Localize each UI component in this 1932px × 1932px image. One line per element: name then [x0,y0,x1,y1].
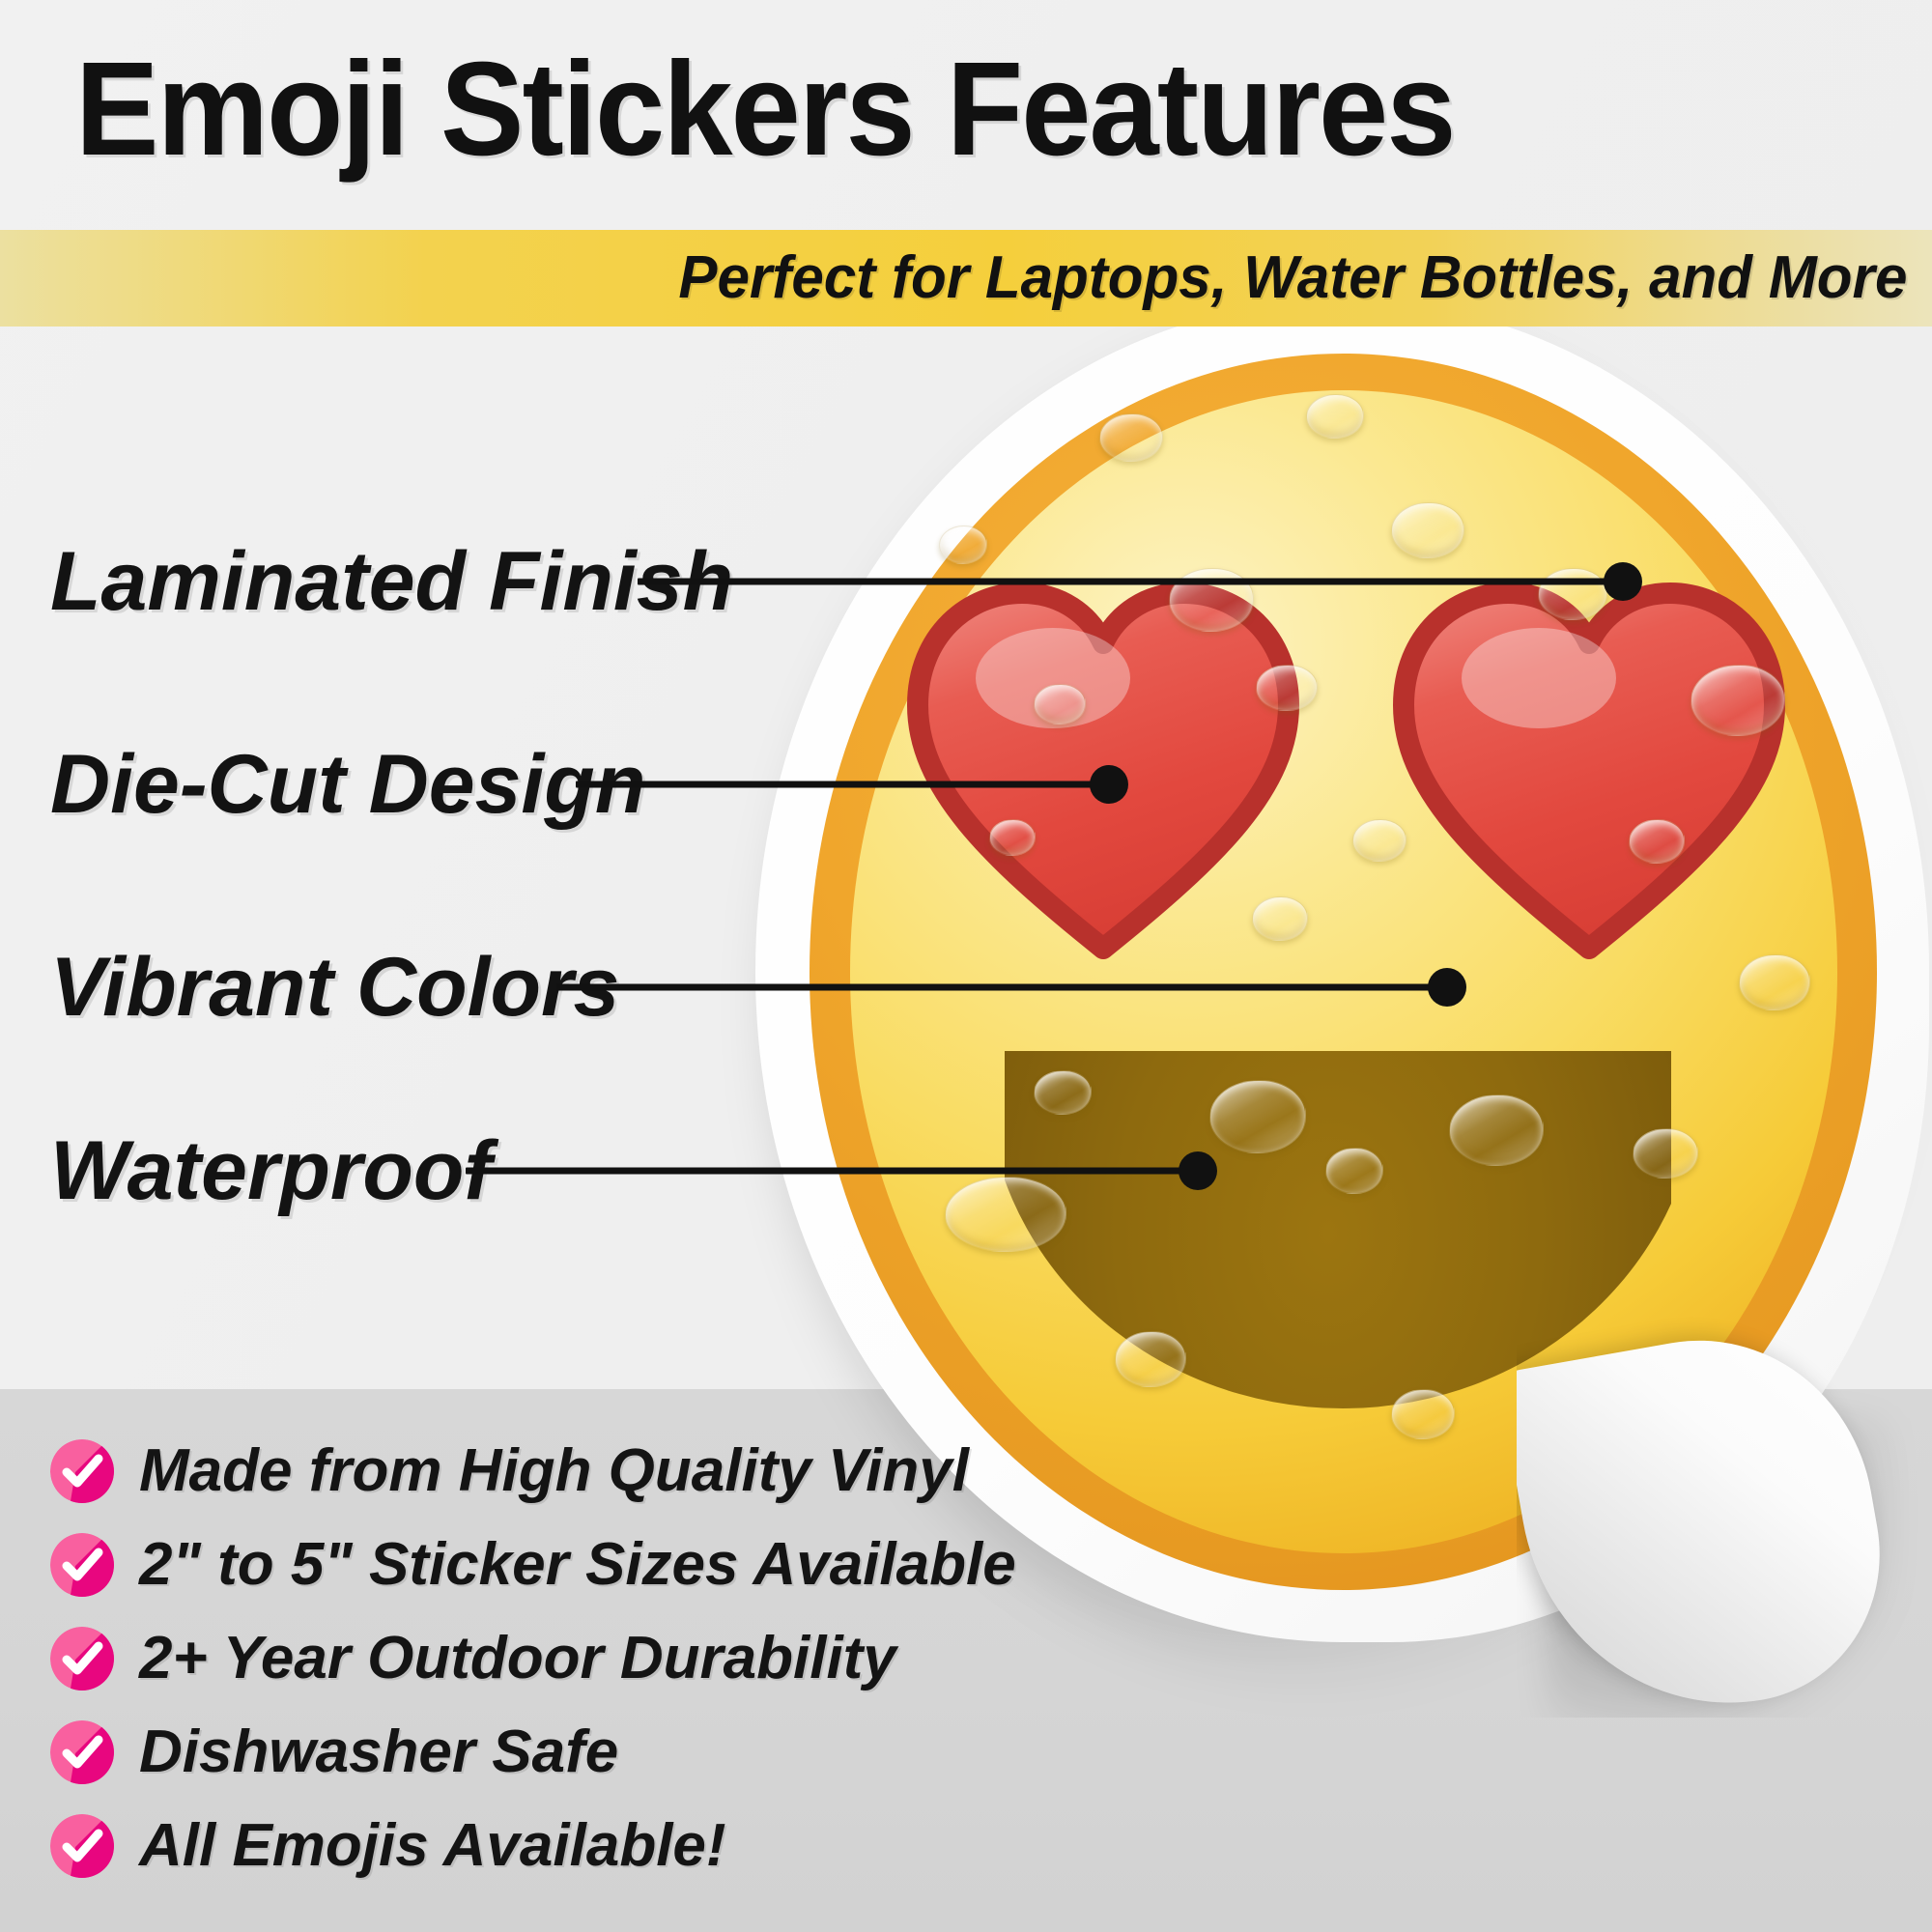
checklist-item: 2+ Year Outdoor Durability [50,1613,1016,1704]
water-droplet [1209,1080,1306,1153]
water-droplet [939,526,987,564]
leader-line [576,781,1109,788]
checklist-item: 2" to 5" Sticker Sizes Available [50,1520,1016,1610]
check-circle-icon [50,1439,114,1503]
water-droplet [1629,819,1685,864]
checklist-item-label: Dishwasher Safe [139,1718,618,1787]
water-droplet [1115,1331,1186,1387]
water-droplet [1352,819,1406,862]
water-droplet [1391,502,1464,558]
leader-line [638,579,1623,585]
feature-label: Vibrant Colors [50,941,619,1034]
water-droplet [1325,1148,1383,1194]
leader-dot [1179,1151,1217,1190]
water-droplet [989,819,1036,856]
water-droplet [1099,413,1163,462]
checklist-item: Dishwasher Safe [50,1707,1016,1798]
checklist-item-label: 2+ Year Outdoor Durability [139,1624,896,1693]
water-droplet [1034,1070,1092,1115]
water-droplet [1034,684,1086,724]
checklist-item-label: All Emojis Available! [139,1811,726,1881]
water-droplet [1306,394,1364,439]
checklist-item: All Emojis Available! [50,1801,1016,1891]
leader-line [556,984,1447,991]
leader-line [466,1168,1198,1175]
check-circle-icon [50,1720,114,1784]
water-droplet [1538,568,1607,620]
checklist-item-label: Made from High Quality Vinyl [139,1436,969,1506]
feature-label: Die-Cut Design [50,738,645,831]
sticker-peeling-corner [1517,1302,1922,1718]
leader-dot [1604,562,1642,601]
leader-dot [1428,968,1466,1007]
check-circle-icon [50,1814,114,1878]
checklist-item-label: 2" to 5" Sticker Sizes Available [139,1530,1016,1600]
check-circle-icon [50,1627,114,1690]
water-droplet [1449,1094,1544,1166]
water-droplet [1252,896,1308,941]
checklist-item: Made from High Quality Vinyl [50,1426,1016,1517]
page-subtitle: Perfect for Laptops, Water Bottles, and … [678,241,1907,315]
feature-label: Waterproof [50,1124,492,1217]
infographic-page: Emoji Stickers Features Perfect for Lapt… [0,0,1932,1932]
benefits-checklist: Made from High Quality Vinyl 2" to 5" St… [50,1426,1016,1894]
water-droplet [945,1177,1066,1252]
water-droplet [1739,954,1810,1010]
feature-label: Laminated Finish [50,535,733,628]
water-droplet [1391,1389,1455,1439]
water-droplet [1633,1128,1698,1179]
check-circle-icon [50,1533,114,1597]
page-title: Emoji Stickers Features [75,37,1764,182]
water-droplet [1256,665,1318,711]
leader-dot [1090,765,1128,804]
water-droplet [1690,665,1785,736]
